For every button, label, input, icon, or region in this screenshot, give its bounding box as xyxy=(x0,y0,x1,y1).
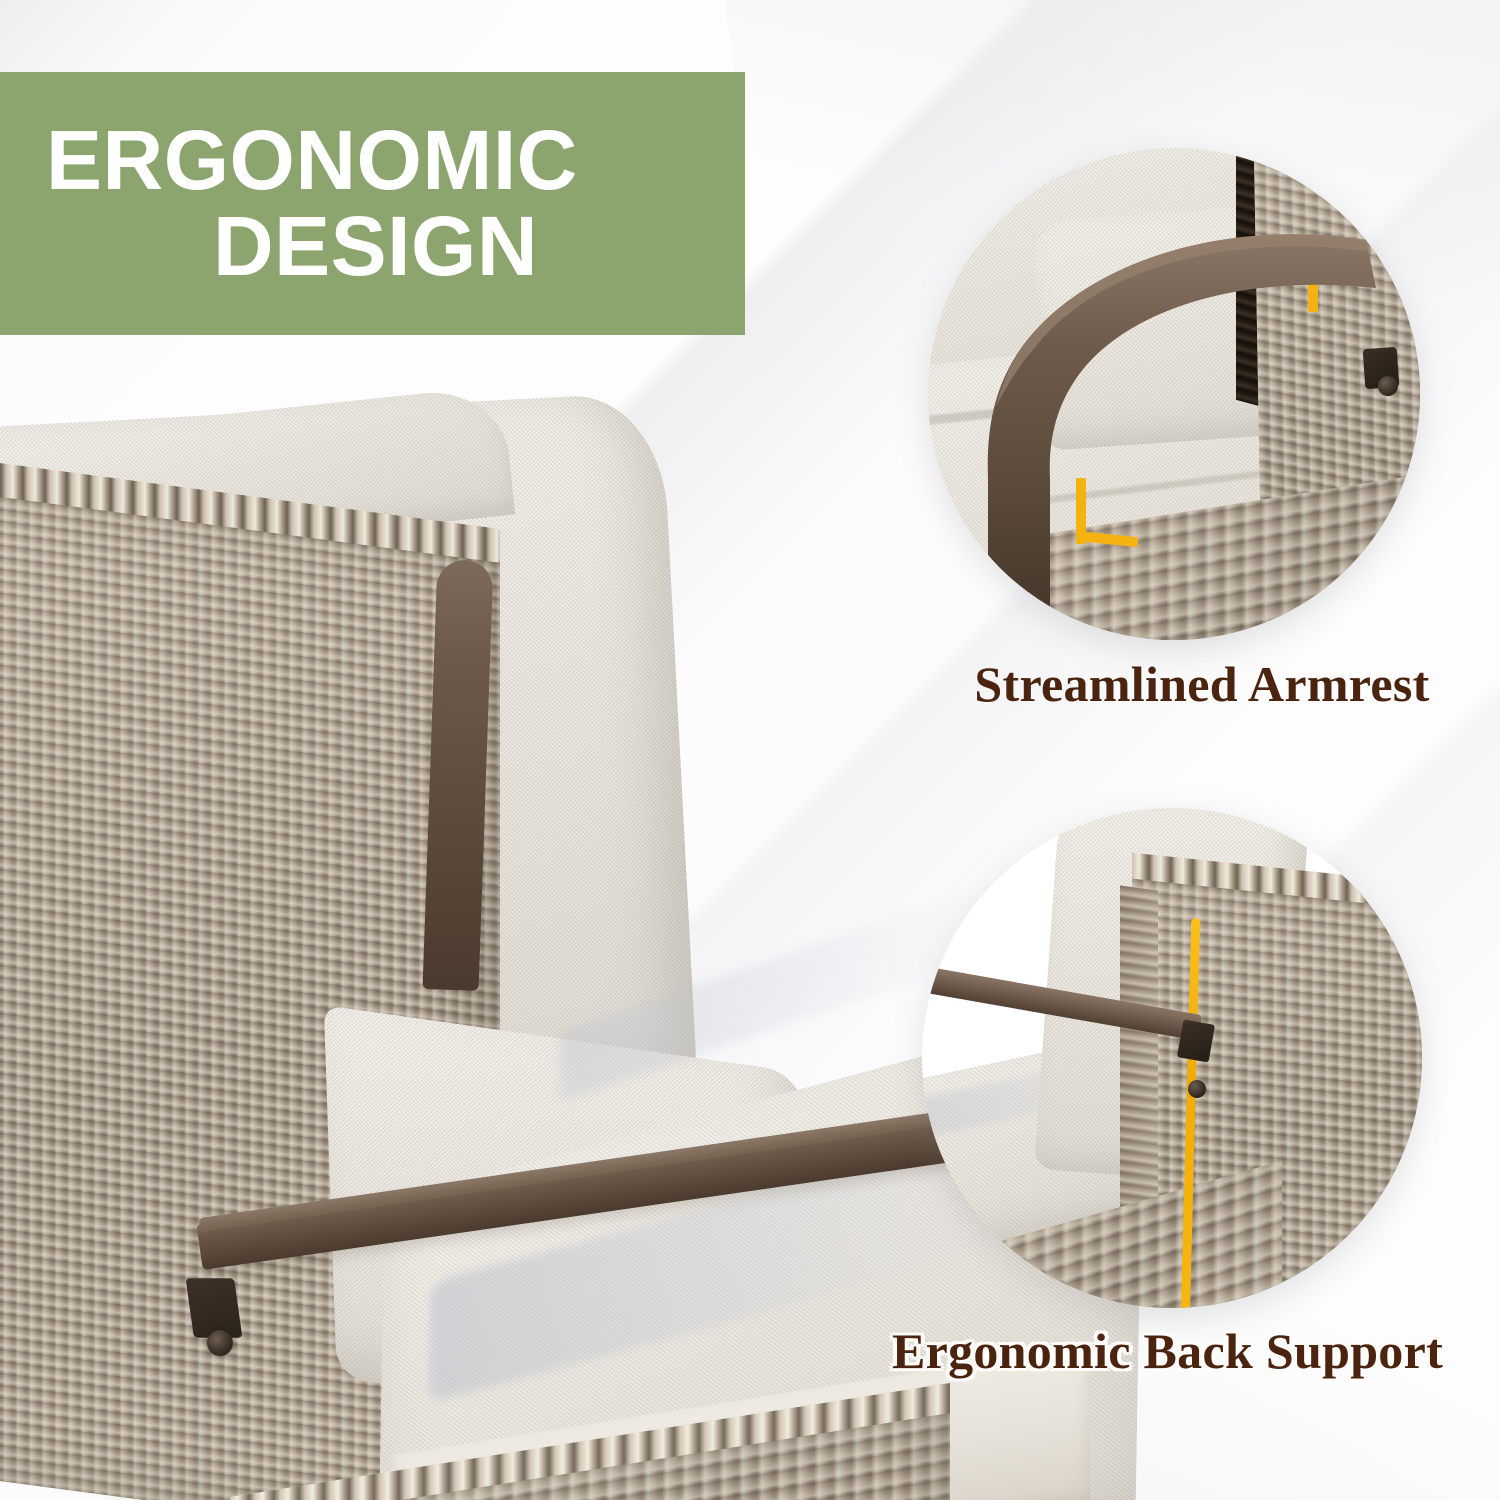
callout1-armrest-bolt xyxy=(1378,376,1398,396)
hero-armrest-end-cap xyxy=(186,1278,243,1337)
hero-armrest-bolt xyxy=(207,1330,233,1356)
callout-circle-ergonomic-back-support xyxy=(922,808,1422,1308)
title-banner: ERGONOMIC DESIGN xyxy=(0,72,745,335)
product-feature-image: ERGONOMIC DESIGN Streamlined Armrest Erg… xyxy=(0,0,1500,1500)
callout-circle-streamlined-armrest xyxy=(928,148,1420,640)
callout-label-streamlined-armrest: Streamlined Armrest xyxy=(922,655,1482,713)
title-line-1: ERGONOMIC xyxy=(46,118,745,204)
callout-label-ergonomic-back-support: Ergonomic Back Support xyxy=(845,1322,1490,1380)
callout2-armrest-bolt xyxy=(1188,1080,1206,1098)
callout2-armrest-end-cap xyxy=(1177,1020,1215,1063)
callout1-curved-armrest xyxy=(928,148,1420,640)
title-line-2: DESIGN xyxy=(46,204,745,290)
